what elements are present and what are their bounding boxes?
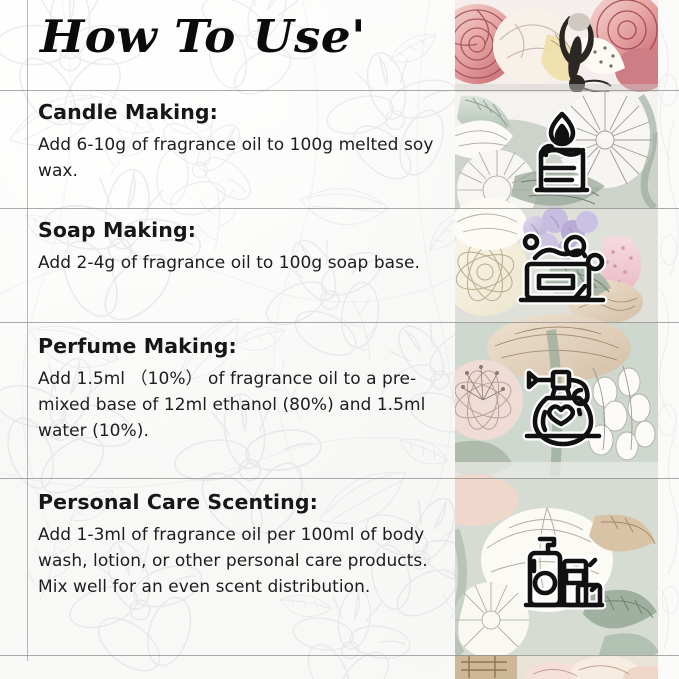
instructions-text-column: How To Use' Candle Making: Add 6-10g of …: [0, 0, 455, 679]
section-body-candle-making: Add 6-10g of fragrance oil to 100g melte…: [38, 133, 450, 185]
perfume-bottle-icon: [513, 360, 613, 448]
section-heading-soap-making: Soap Making:: [38, 218, 450, 242]
divider-after-soap: [0, 322, 679, 323]
left-margin-vertical-rule: [27, 0, 28, 661]
divider-after-perfume: [0, 478, 679, 479]
candle-icon: [519, 106, 605, 198]
section-perfume-making: Perfume Making: Add 1.5ml （10%） of fragr…: [38, 334, 450, 444]
section-heading-perfume-making: Perfume Making:: [38, 334, 450, 358]
divider-after-personalcare: [0, 655, 679, 656]
how-to-use-infographic: How To Use' Candle Making: Add 6-10g of …: [0, 0, 679, 679]
section-candle-making: Candle Making: Add 6-10g of fragrance oi…: [38, 100, 450, 185]
page-title: How To Use': [40, 10, 366, 63]
personal-care-products-icon: [522, 527, 606, 615]
section-soap-making: Soap Making: Add 2-4g of fragrance oil t…: [38, 218, 450, 277]
section-body-personal-care-scenting: Add 1-3ml of fragrance oil per 100ml of …: [38, 523, 450, 600]
divider-after-title: [0, 90, 679, 91]
section-personal-care-scenting: Personal Care Scenting: Add 1-3ml of fra…: [38, 490, 450, 600]
divider-after-candle: [0, 208, 679, 209]
right-edge-strip: [658, 0, 679, 679]
section-body-soap-making: Add 2-4g of fragrance oil to 100g soap b…: [38, 251, 450, 277]
soap-bar-icon: [513, 222, 611, 312]
section-body-perfume-making: Add 1.5ml （10%） of fragrance oil to a pr…: [38, 367, 450, 444]
section-heading-personal-care-scenting: Personal Care Scenting:: [38, 490, 450, 514]
section-heading-candle-making: Candle Making:: [38, 100, 450, 124]
